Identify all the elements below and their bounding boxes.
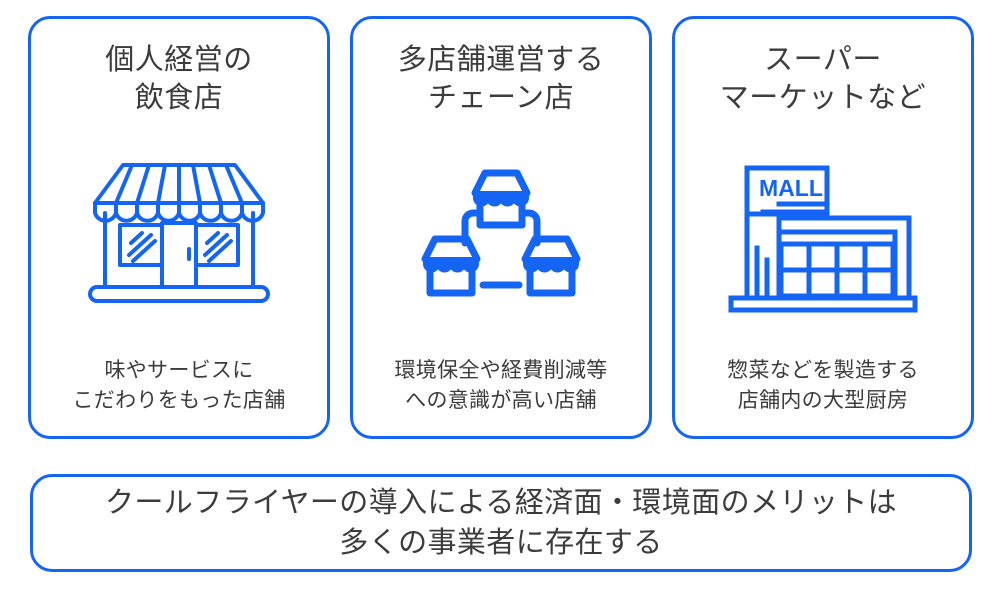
card-title: 個人経営の 飲食店: [105, 41, 253, 118]
infographic-canvas: 個人経営の 飲食店: [0, 0, 1000, 591]
category-card-independent-restaurant[interactable]: 個人経営の 飲食店: [28, 16, 330, 439]
conclusion-banner[interactable]: クールフライヤーの導入による経済面・環境面のメリットは 多くの事業者に存在する: [30, 474, 972, 572]
category-card-chain-store[interactable]: 多店舗運営する チェーン店: [350, 16, 652, 439]
storefront-icon: [41, 118, 317, 357]
card-title: スーパー マーケットなど: [720, 41, 927, 118]
category-card-supermarket[interactable]: スーパー マーケットなど MALL: [672, 16, 974, 439]
mall-sign-label: MALL: [759, 175, 823, 201]
shopping-mall-icon: MALL: [685, 118, 961, 357]
conclusion-banner-text: クールフライヤーの導入による経済面・環境面のメリットは 多くの事業者に存在する: [105, 483, 897, 563]
category-card-row: 個人経営の 飲食店: [28, 16, 974, 439]
card-caption: 惣菜などを製造する 店舗内の大型厨房: [727, 356, 919, 416]
card-caption: 味やサービスに こだわりをもった店舗: [73, 356, 286, 416]
card-title: 多店舗運営する チェーン店: [398, 41, 605, 118]
card-caption: 環境保全や経費削減等 への意識が高い店舗: [395, 356, 608, 416]
store-network-icon: [363, 118, 639, 357]
